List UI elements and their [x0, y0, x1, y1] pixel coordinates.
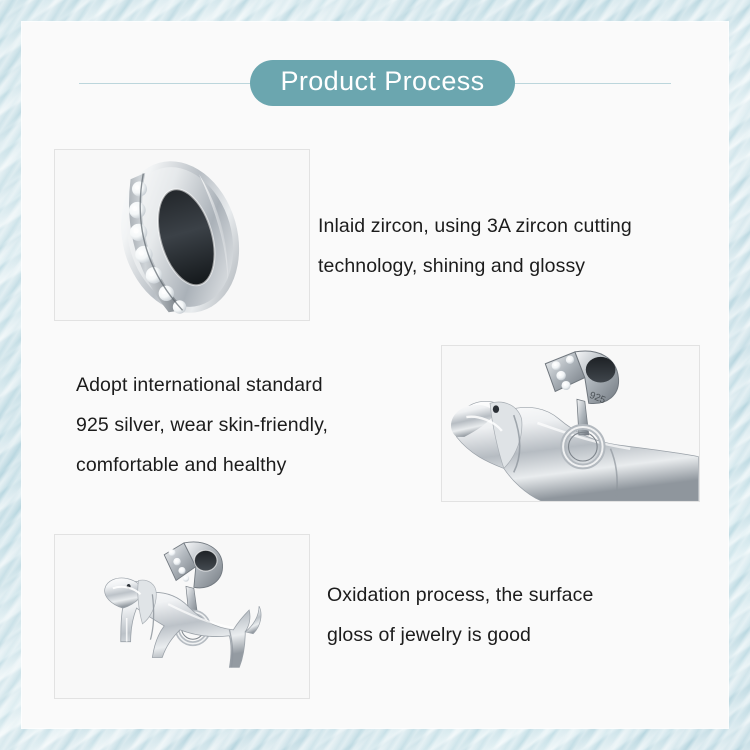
caption-silver: Adopt international standard 925 silver,…	[76, 365, 406, 485]
product-photo-zircon-ring	[54, 149, 310, 321]
header-rule-left	[79, 83, 254, 84]
content-card: Product Process	[22, 22, 728, 728]
page-title: Product Process	[250, 60, 514, 106]
caption-zircon: Inlaid zircon, using 3A zircon cutting t…	[318, 206, 718, 286]
dachshund-dangle-charm-full-view-icon	[55, 535, 309, 698]
page-header: Product Process	[22, 60, 728, 106]
silver-spacer-ring-with-pave-zircon-icon	[55, 150, 309, 320]
dachshund-charm-closeup-925-stamp-icon: 925	[442, 346, 699, 501]
header-rule-right	[511, 83, 671, 84]
product-photo-dachshund-charm	[54, 534, 310, 699]
product-photo-charm-closeup: 925	[441, 345, 700, 502]
caption-oxidation: Oxidation process, the surface gloss of …	[327, 575, 697, 655]
product-process-infographic: Product Process	[0, 0, 750, 750]
